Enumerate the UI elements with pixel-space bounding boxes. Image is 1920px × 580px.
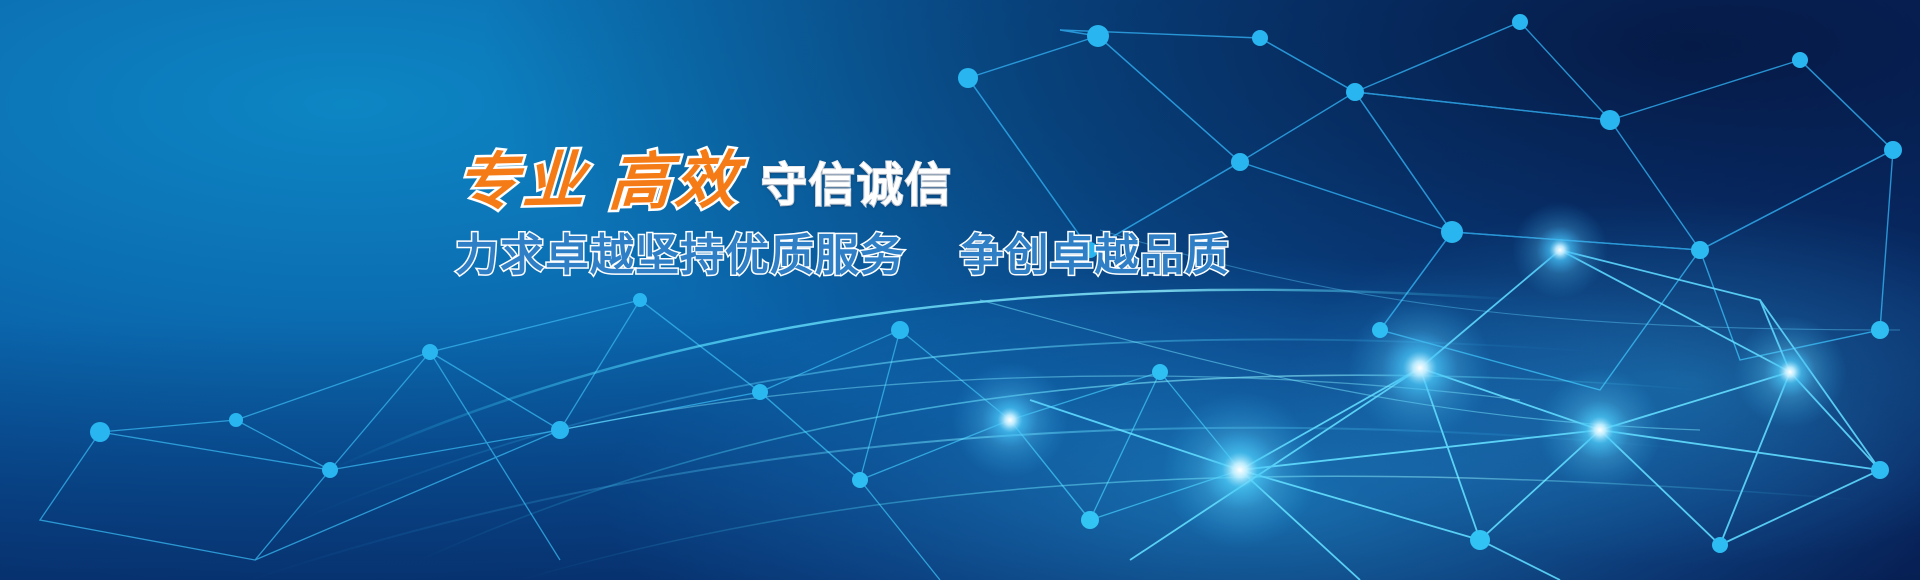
subline-part-1: 力求卓越坚持优质服务 — [455, 230, 905, 281]
slogan-brush-1: 专业 — [455, 149, 590, 214]
slogan-white: 守信诚信 — [761, 162, 953, 208]
headline-line-1: 专业 高效 守信诚信 — [455, 138, 1215, 214]
headline-line-2: 力求卓越坚持优质服务 争创卓越品质 — [455, 232, 1215, 280]
background-center-glow — [0, 0, 1920, 580]
headline-block: 专业 高效 守信诚信 力求卓越坚持优质服务 争创卓越品质 — [455, 138, 1215, 280]
subline-part-2: 争创卓越品质 — [960, 230, 1230, 281]
banner-root: 专业 高效 守信诚信 力求卓越坚持优质服务 争创卓越品质 — [0, 0, 1920, 580]
slogan-brush-2: 高效 — [607, 149, 742, 214]
